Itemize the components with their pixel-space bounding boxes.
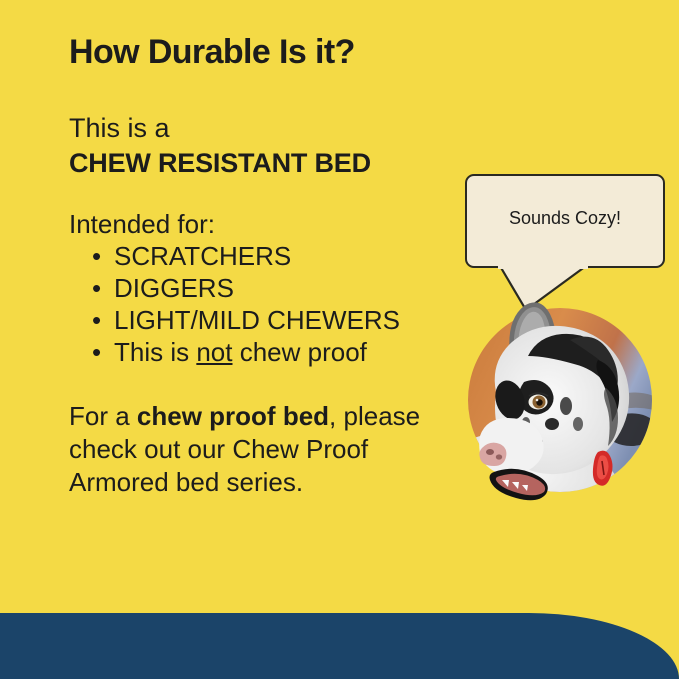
intro-line-2: CHEW RESISTANT BED [69, 146, 371, 181]
intended-for-list: •SCRATCHERS •DIGGERS •LIGHT/MILD CHEWERS… [69, 240, 400, 368]
list-item: •DIGGERS [92, 272, 400, 304]
list-item-label-underlined: not [196, 337, 232, 367]
closing-prefix: For a [69, 401, 137, 431]
speech-bubble-text: Sounds Cozy! [467, 208, 663, 229]
list-item-label-after: chew proof [233, 337, 367, 367]
dog-photo [466, 296, 654, 504]
bullet-icon: • [92, 336, 101, 368]
list-item-label-before: This is [114, 337, 196, 367]
closing-emphasis: chew proof bed [137, 401, 329, 431]
closing-paragraph: For a chew proof bed, please check out o… [69, 400, 469, 499]
dog-photo-illustration [466, 296, 654, 504]
bullet-icon: • [92, 304, 101, 336]
intro-block: This is a CHEW RESISTANT BED [69, 111, 371, 181]
list-item: •LIGHT/MILD CHEWERS [92, 304, 400, 336]
intro-line-1: This is a [69, 111, 371, 146]
bullet-icon: • [92, 272, 101, 304]
intended-for-block: Intended for: •SCRATCHERS •DIGGERS •LIGH… [69, 208, 400, 368]
bullet-icon: • [92, 240, 101, 272]
bottom-accent-bar [0, 613, 679, 679]
promo-graphic: How Durable Is it? This is a CHEW RESIST… [0, 0, 679, 679]
speech-bubble: Sounds Cozy! [465, 174, 665, 268]
list-item: •This is not chew proof [92, 336, 400, 368]
list-item-label: DIGGERS [114, 273, 234, 303]
list-item-label: LIGHT/MILD CHEWERS [114, 305, 400, 335]
intended-for-label: Intended for: [69, 208, 400, 240]
list-item: •SCRATCHERS [92, 240, 400, 272]
list-item-label: SCRATCHERS [114, 241, 291, 271]
page-title: How Durable Is it? [69, 33, 355, 72]
